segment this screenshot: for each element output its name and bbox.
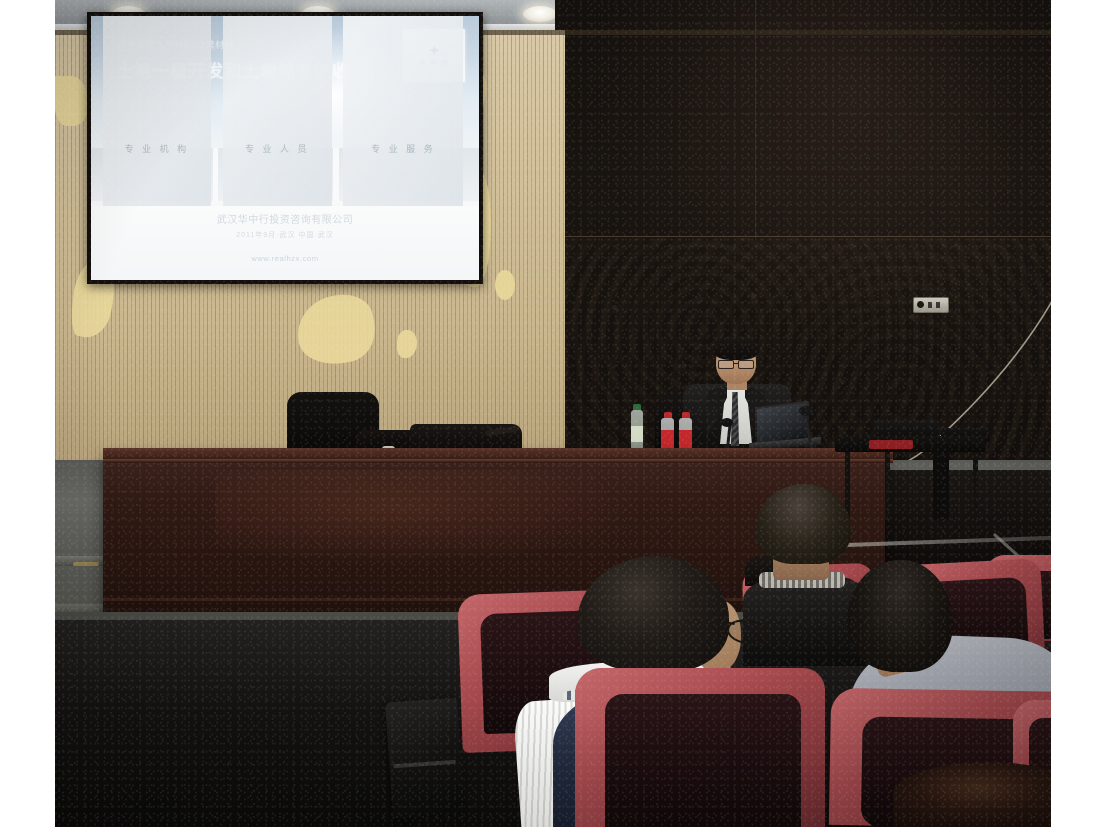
red-equipment-item [869, 440, 913, 449]
presenter-hair [713, 336, 759, 360]
slide-band-label: 专 业 服 务 [371, 142, 436, 155]
slide-band-divider [213, 148, 218, 201]
audience-behind-dark-hair [755, 484, 851, 564]
outlet-switch [917, 301, 924, 308]
wall-map-shape [397, 330, 417, 358]
desk-edge-lip [103, 459, 893, 463]
ceiling-light-icon [523, 6, 557, 22]
wall-seam-vertical [755, 0, 756, 238]
audience-grey-shirt-hair [847, 560, 953, 672]
hanging-equipment [933, 444, 949, 520]
side-table [835, 436, 985, 452]
auditorium-seat [575, 668, 825, 827]
table-leg [885, 452, 890, 520]
lecture-hall-photo: 华中师范大学MBA交流材料 土地一级开发和土地储备征收 主讲人：潘世炳 ✦ 华 … [55, 0, 1051, 827]
wall-outlet-icon [913, 297, 949, 313]
presenter-glasses-icon [717, 360, 755, 367]
slide-footer-company: 武汉华中行投资咨询有限公司 [91, 211, 479, 226]
outlet-slot [928, 302, 932, 308]
audience-bottom-dark-hair [893, 762, 1051, 827]
microphone-icon [721, 418, 733, 427]
floor-marking [73, 562, 99, 566]
desk-highlight [215, 470, 645, 565]
outlet-slot [936, 302, 940, 308]
projection-screen: 华中师范大学MBA交流材料 土地一级开发和土地储备征收 主讲人：潘世炳 ✦ 华 … [91, 16, 479, 280]
wall-map-shape [495, 270, 515, 300]
wall-map-shape [291, 289, 381, 372]
slide-band-label: 专 业 机 构 [125, 142, 190, 155]
slide-footer-url: www.realhzx.com [91, 254, 479, 263]
slide-footer-meta: 2011年9月·武汉 中国·武汉 [91, 230, 479, 240]
table-leg [973, 452, 978, 520]
wall-seam [555, 236, 1051, 237]
wall-map-shape [55, 76, 89, 126]
projection-screen-frame: 华中师范大学MBA交流材料 土地一级开发和土地储备征收 主讲人：潘世炳 ✦ 华 … [87, 12, 483, 284]
microphone-icon [799, 406, 813, 416]
slide-band-label: 专 业 人 员 [245, 142, 310, 155]
seat-writing-tablet [385, 698, 465, 819]
photo-page: 华中师范大学MBA交流材料 土地一级开发和土地储备征收 主讲人：潘世炳 ✦ 华 … [0, 0, 1102, 827]
slide-band-divider [333, 148, 338, 201]
